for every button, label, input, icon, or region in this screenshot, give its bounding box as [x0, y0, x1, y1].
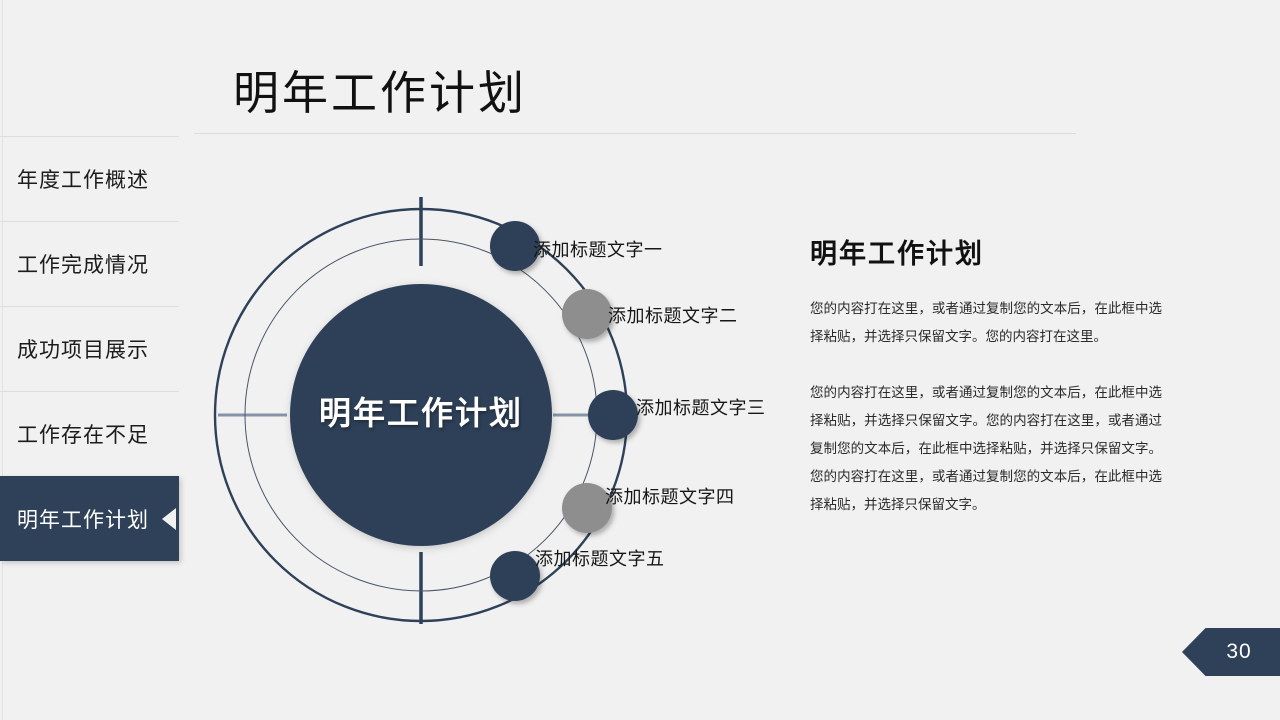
bullet-label-5: 添加标题文字五	[535, 545, 665, 571]
sidebar-item-annual-overview[interactable]: 年度工作概述	[0, 136, 179, 221]
sidebar-item-shortcomings[interactable]: 工作存在不足	[0, 391, 179, 476]
bullet-node-5[interactable]	[490, 551, 540, 601]
bullet-label-1: 添加标题文字一	[533, 236, 663, 262]
bullet-label-4: 添加标题文字四	[605, 483, 735, 509]
page-title: 明年工作计划	[233, 57, 527, 123]
panel-paragraph-1: 您的内容打在这里，或者通过复制您的文本后，在此框中选择粘贴，并选择只保留文字。您…	[810, 295, 1162, 351]
sidebar-item-next-year-plan[interactable]: 明年工作计划	[0, 476, 179, 561]
bullet-node-2[interactable]	[562, 289, 612, 339]
sidebar-item-label: 工作存在不足	[0, 419, 149, 449]
page-number-badge: 30	[1182, 628, 1280, 676]
active-pointer-icon	[162, 508, 176, 530]
panel-heading: 明年工作计划	[810, 232, 1162, 271]
sidebar-item-label: 成功项目展示	[0, 334, 149, 364]
sidebar-nav: 年度工作概述 工作完成情况 成功项目展示 工作存在不足 明年工作计划	[0, 136, 179, 561]
right-content-panel: 明年工作计划 您的内容打在这里，或者通过复制您的文本后，在此框中选择粘贴，并选择…	[810, 232, 1162, 519]
title-divider	[194, 133, 1076, 134]
sidebar-item-label: 年度工作概述	[0, 164, 149, 194]
bullet-label-3: 添加标题文字三	[636, 394, 766, 420]
sidebar-item-successful-projects[interactable]: 成功项目展示	[0, 306, 179, 391]
sidebar-item-label: 工作完成情况	[0, 249, 149, 279]
bullet-label-2: 添加标题文字二	[608, 302, 738, 328]
sidebar-item-label: 明年工作计划	[0, 504, 149, 534]
page-number: 30	[1210, 640, 1251, 664]
circular-diagram: 明年工作计划 添加标题文字一 添加标题文字二 添加标题文字三 添加标题文字四 添…	[195, 190, 795, 640]
panel-paragraph-2: 您的内容打在这里，或者通过复制您的文本后，在此框中选择粘贴，并选择只保留文字。您…	[810, 379, 1162, 519]
diagram-center-label: 明年工作计划	[211, 388, 631, 434]
sidebar-item-work-completion[interactable]: 工作完成情况	[0, 221, 179, 306]
